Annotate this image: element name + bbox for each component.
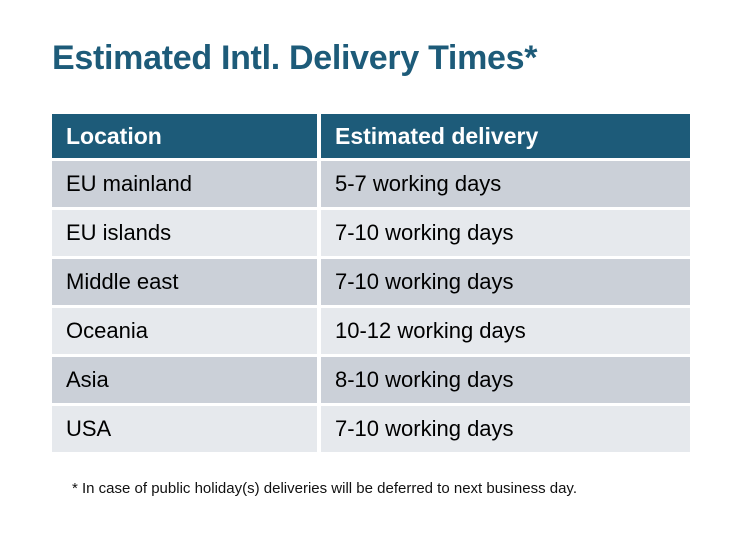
table-row: Middle east 7-10 working days [52, 259, 690, 305]
cell-location: Oceania [52, 308, 317, 354]
cell-estimated-delivery: 5-7 working days [321, 161, 690, 207]
cell-location: EU islands [52, 210, 317, 256]
delivery-times-page: Estimated Intl. Delivery Times* Location… [0, 0, 745, 536]
page-title: Estimated Intl. Delivery Times* [52, 36, 537, 80]
cell-estimated-delivery: 7-10 working days [321, 210, 690, 256]
cell-estimated-delivery: 7-10 working days [321, 259, 690, 305]
table-row: USA 7-10 working days [52, 406, 690, 452]
cell-location: Asia [52, 357, 317, 403]
cell-estimated-delivery: 7-10 working days [321, 406, 690, 452]
footnote: * In case of public holiday(s) deliverie… [72, 478, 577, 500]
cell-estimated-delivery: 10-12 working days [321, 308, 690, 354]
estimated-delivery-times-table: Location Estimated delivery EU mainland … [52, 114, 690, 452]
table-row: EU islands 7-10 working days [52, 210, 690, 256]
table-header-row: Location Estimated delivery [52, 114, 690, 158]
column-header-location: Location [52, 114, 317, 158]
cell-location: USA [52, 406, 317, 452]
cell-estimated-delivery: 8-10 working days [321, 357, 690, 403]
table-row: Asia 8-10 working days [52, 357, 690, 403]
cell-location: Middle east [52, 259, 317, 305]
table-row: EU mainland 5-7 working days [52, 161, 690, 207]
column-header-estimated-delivery: Estimated delivery [321, 114, 690, 158]
table-row: Oceania 10-12 working days [52, 308, 690, 354]
cell-location: EU mainland [52, 161, 317, 207]
